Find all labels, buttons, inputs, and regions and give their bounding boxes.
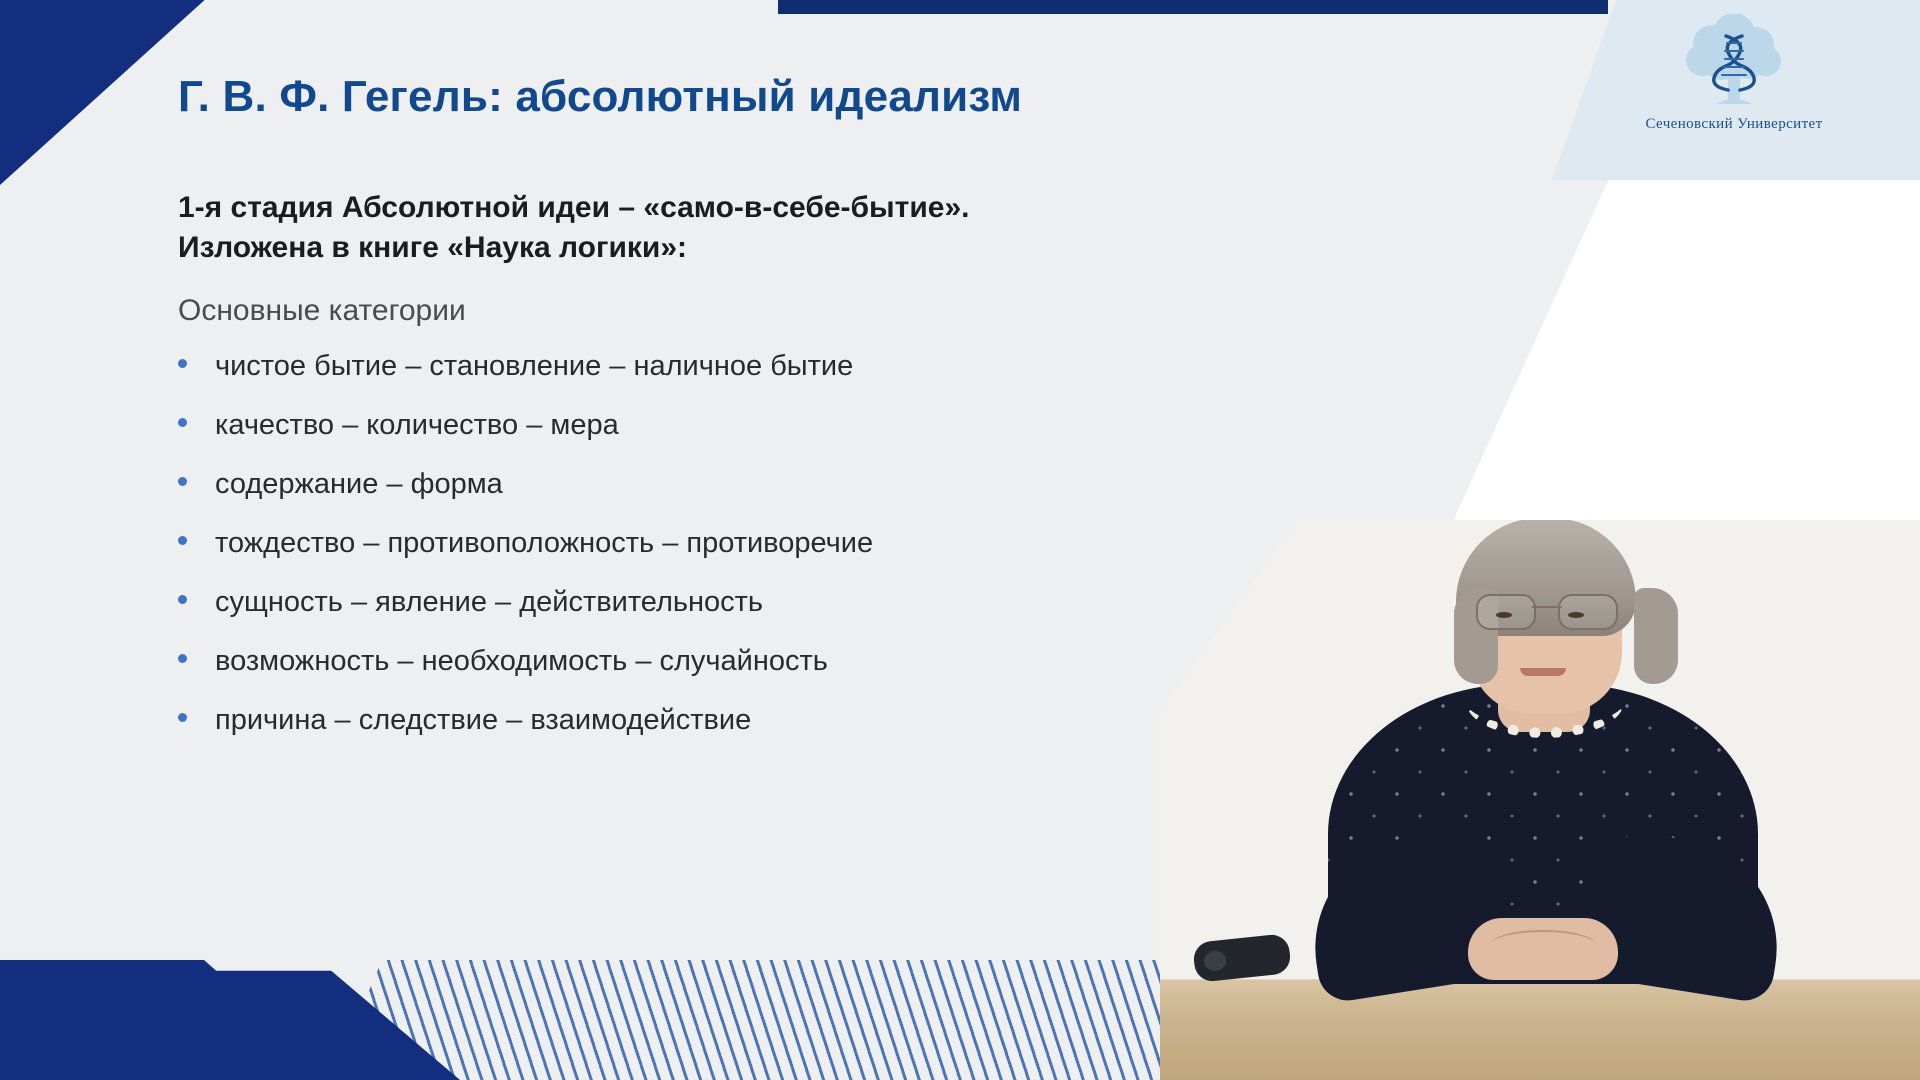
logo-caption: Сеченовский Университет — [1645, 116, 1822, 133]
list-item-label: причина – следствие – взаимодействие — [215, 704, 751, 737]
list-item: возможность – необходимость – случайност… — [178, 645, 873, 704]
list-item-label: тождество – противоположность – противор… — [215, 527, 873, 560]
glasses-right-lens — [1558, 594, 1618, 630]
desk-surface — [1160, 980, 1920, 1080]
presenter-right-arm — [1571, 825, 1792, 1004]
tree-dna-icon — [1672, 14, 1796, 114]
presenter-video-frame — [1160, 520, 1920, 1080]
bullet-dot-icon — [178, 654, 187, 663]
list-item: причина – следствие – взаимодействие — [178, 704, 873, 763]
presenter-mouth — [1520, 668, 1566, 676]
top-navy-bar — [778, 0, 1608, 14]
lead-line-1: 1-я стадия Абсолютной идеи – «само-в-себ… — [178, 188, 970, 228]
lecture-slide-screen: Сеченовский Университет Г. В. Ф. Гегель:… — [0, 0, 1920, 1080]
bottom-diagonal-stripes — [330, 960, 1200, 1080]
list-item: сущность – явление – действительность — [178, 586, 873, 645]
bullet-dot-icon — [178, 418, 187, 427]
bullet-dot-icon — [178, 477, 187, 486]
bullet-dot-icon — [178, 536, 187, 545]
presenter-left-eye — [1496, 612, 1512, 618]
list-item: содержание – форма — [178, 468, 873, 527]
presenter-hair-right — [1634, 588, 1678, 684]
list-item: тождество – противоположность – противор… — [178, 527, 873, 586]
category-bullet-list: чистое бытие – становление – наличное бы… — [178, 350, 873, 763]
list-item-label: сущность – явление – действительность — [215, 586, 763, 619]
university-logo: Сеченовский Университет — [1584, 14, 1884, 166]
list-item: чистое бытие – становление – наличное бы… — [178, 350, 873, 409]
list-item-label: чистое бытие – становление – наличное бы… — [215, 350, 853, 383]
glasses-icon — [1476, 594, 1618, 628]
bullet-dot-icon — [178, 359, 187, 368]
presenter-hands — [1468, 918, 1618, 980]
presenter-figure — [1280, 564, 1800, 984]
slide-title: Г. В. Ф. Гегель: абсолютный идеализм — [178, 72, 1022, 122]
lead-line-2: Изложена в книге «Наука логики»: — [178, 228, 970, 268]
list-item-label: содержание – форма — [215, 468, 503, 501]
bullet-dot-icon — [178, 595, 187, 604]
slide-lead-paragraph: 1-я стадия Абсолютной идеи – «само-в-себ… — [178, 188, 970, 268]
list-item-label: качество – количество – мера — [215, 409, 619, 442]
presenter-video-overlay — [1160, 520, 1920, 1080]
slide-subheading: Основные категории — [178, 294, 466, 328]
bullet-dot-icon — [178, 713, 187, 722]
list-item-label: возможность – необходимость – случайност… — [215, 645, 828, 678]
presenter-right-eye — [1568, 612, 1584, 618]
list-item: качество – количество – мера — [178, 409, 873, 468]
